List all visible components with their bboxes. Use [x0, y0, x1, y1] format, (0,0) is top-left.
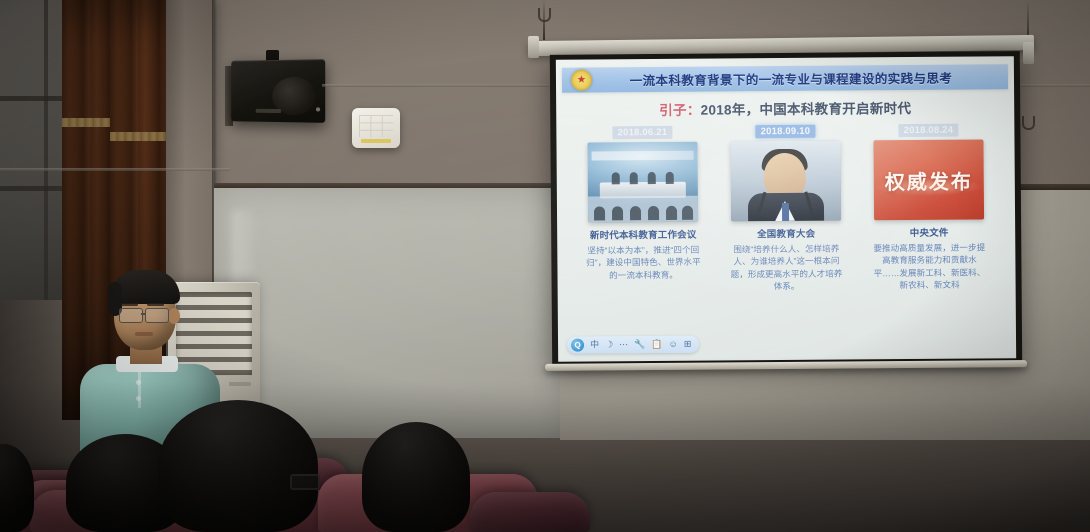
- speaker-brand-badge: [256, 109, 281, 113]
- sogou-logo-icon[interactable]: Q: [571, 339, 584, 352]
- column-caption-body: 坚持“以本为本”，推进“四个回归”，建设中国特色、世界水平的一流本科教育。: [581, 244, 705, 282]
- slide-subtitle-rest: 2018年，中国本科教育开启新时代: [701, 101, 912, 118]
- star-icon: ★: [577, 75, 586, 85]
- column-caption-body: 要推动高质量发展，进一步提高教育服务能力和贡献水平……发展新工科、新医科、新农科…: [867, 241, 991, 292]
- ime-clipboard-icon[interactable]: 📋: [651, 340, 662, 349]
- ime-moon-icon[interactable]: ☽: [605, 340, 613, 349]
- audience-head: [158, 400, 318, 532]
- presenter-brow-left: [121, 303, 138, 306]
- housing-cap-left: [528, 36, 539, 58]
- portrait-tie: [782, 203, 789, 221]
- column-caption-body: 围绕“培养什么人、怎样培养人、为谁培养人”这一根本问题，形成更高水平的人才培养体…: [724, 243, 848, 294]
- seat: [470, 492, 590, 532]
- wall-control-panel[interactable]: [352, 108, 400, 148]
- date-badge: 2018.08.24: [899, 124, 959, 137]
- screen-hook-left: [538, 8, 551, 22]
- ime-toolbar[interactable]: Q 中 ☽ ⋯ 🔧 📋 ☺ ⊞: [567, 336, 699, 354]
- date-badge: 2018.06.21: [613, 126, 673, 139]
- conference-banner: [592, 151, 694, 161]
- slide-title: 一流本科教育背景下的一流专业与课程建设的实践与思考: [592, 67, 1008, 89]
- lecture-hall-photo: ★ 一流本科教育背景下的一流专业与课程建设的实践与思考 引子：2018年，中国本…: [0, 0, 1090, 532]
- column-caption-title: 全国教育大会: [757, 226, 815, 240]
- column-caption-title: 中央文件: [910, 225, 949, 239]
- glasses-icon: [145, 308, 169, 323]
- audience-head: [0, 444, 34, 532]
- audience-seating: [0, 414, 1090, 532]
- ime-tools-icon[interactable]: 🔧: [634, 340, 645, 349]
- speaker-portrait-image: [730, 141, 841, 222]
- ime-mode-chinese-icon[interactable]: 中: [590, 340, 599, 349]
- slide-title-bar: ★ 一流本科教育背景下的一流专业与课程建设的实践与思考: [562, 64, 1008, 93]
- ime-punctuation-icon[interactable]: ⋯: [619, 340, 628, 349]
- slide-column: 2018.08.24 权威发布 中央文件 要推动高质量发展，进一步提高教育服务能…: [866, 123, 991, 292]
- date-badge: 2018.09.10: [756, 125, 816, 138]
- control-panel-grid: [359, 115, 393, 137]
- glasses-icon: [119, 308, 143, 323]
- slide-column: 2018.06.21: [580, 126, 705, 295]
- slide-column: 2018.09.10 全国教育大会 围绕“培养什么人、怎样培养人、为谁培养人”这…: [723, 125, 848, 294]
- slide-columns: 2018.06.21: [556, 123, 1015, 294]
- conference-hall-image: [587, 142, 698, 223]
- presenter-mouth: [135, 332, 153, 336]
- screen-hook-right: [1022, 116, 1035, 130]
- slide-subtitle-lead: 引子：: [659, 103, 701, 118]
- ime-emoji-icon[interactable]: ☺: [669, 340, 678, 349]
- presenter-brow-right: [147, 303, 164, 306]
- authoritative-release-image: 权威发布: [873, 139, 984, 220]
- presenter-ear: [168, 308, 180, 324]
- presenter-placket: [138, 372, 141, 408]
- projection-screen: ★ 一流本科教育背景下的一流专业与课程建设的实践与思考 引子：2018年，中国本…: [550, 51, 1022, 367]
- column-caption-title: 新时代本科教育工作会议: [590, 227, 697, 242]
- university-seal-icon: ★: [571, 70, 592, 91]
- wall-speaker: [231, 59, 325, 123]
- whiteboard: [214, 188, 566, 438]
- audience-head: [362, 422, 470, 532]
- presentation-slide: ★ 一流本科教育背景下的一流专业与课程建设的实践与思考 引子：2018年，中国本…: [556, 56, 1016, 362]
- slide-subtitle: 引子：2018年，中国本科教育开启新时代: [556, 96, 1014, 120]
- housing-cap-right: [1023, 42, 1034, 64]
- control-panel-label: [361, 139, 391, 143]
- wall-conduit-lower: [0, 168, 230, 171]
- ime-apps-icon[interactable]: ⊞: [684, 340, 692, 349]
- speaker-led: [316, 107, 320, 111]
- glasses-bridge: [141, 313, 146, 315]
